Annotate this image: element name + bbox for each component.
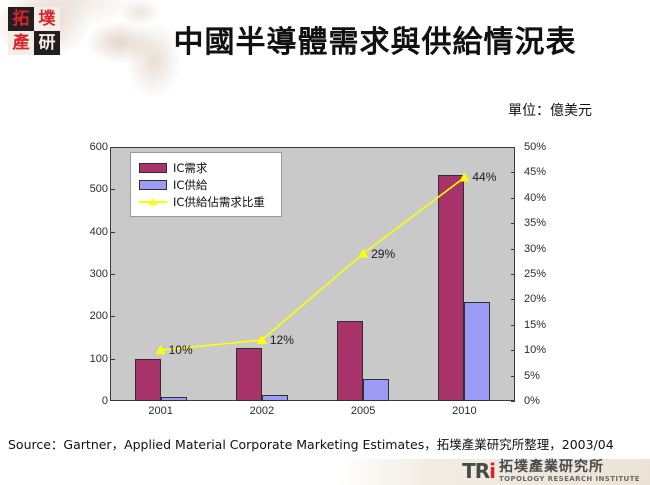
tri-wordmark: TRi (462, 461, 495, 481)
y-axis-tick-label: 0 (72, 396, 108, 407)
x-axis-tick-label: 2010 (424, 406, 504, 417)
bar-supply (464, 302, 490, 401)
tri-footer-logo: TRi 拓墣產業研究所 TOPOLOGY RESEARCH INSTITUTE (462, 459, 640, 483)
ratio-data-label: 44% (472, 171, 496, 183)
slide-canvas: 拓 墣 產 研 中國半導體需求與供給情況表 單位：億美元 01002003004… (0, 0, 650, 485)
y-axis-tick (111, 189, 115, 190)
y-axis-tick (111, 359, 115, 360)
legend-item-demand: IC需求 (139, 159, 274, 176)
unit-caption: 單位：億美元 (508, 100, 592, 120)
y2-axis-tick-label: 20% (524, 294, 564, 305)
legend-swatch-ratio-line-icon (139, 197, 167, 207)
y-axis-tick-label: 500 (72, 184, 108, 195)
y2-axis-tick (511, 147, 515, 148)
y2-axis-tick (511, 249, 515, 250)
x-axis-tick-label: 2005 (323, 406, 403, 417)
tri-wordmark-i: i (489, 459, 495, 483)
y-axis-tick (111, 274, 115, 275)
y-axis-tick (111, 232, 115, 233)
y2-axis-tick (511, 274, 515, 275)
chart: 0100200300400500600 0%5%10%15%20%25%30%3… (78, 140, 548, 422)
bar-demand (337, 321, 363, 401)
y2-axis-tick-label: 35% (524, 218, 564, 229)
logo-cell-3: 產 (8, 31, 34, 55)
y2-axis-tick-label: 0% (524, 396, 564, 407)
bar-supply (161, 397, 187, 401)
y2-axis-tick-label: 15% (524, 320, 564, 331)
page-title: 中國半導體需求與供給情況表 (120, 17, 630, 61)
tri-name-en: TOPOLOGY RESEARCH INSTITUTE (499, 476, 640, 483)
y-axis-tick-label: 600 (72, 142, 108, 153)
logo-cell-4: 研 (34, 31, 60, 55)
legend-label-supply: IC供給 (173, 177, 207, 193)
bar-supply (363, 379, 389, 401)
y2-axis-tick (511, 376, 515, 377)
source-note: Source：Gartner，Applied Material Corporat… (8, 434, 614, 453)
y2-axis-tick-label: 10% (524, 345, 564, 356)
tri-wordmark-tr: TR (462, 459, 489, 483)
y2-axis-tick (511, 299, 515, 300)
y-axis-tick-label: 300 (72, 269, 108, 280)
bar-supply (262, 395, 288, 401)
y2-axis-tick-label: 25% (524, 269, 564, 280)
y2-axis-tick (511, 325, 515, 326)
logo-cell-2: 墣 (34, 7, 60, 31)
legend-swatch-demand-icon (139, 163, 167, 173)
y-axis-tick-label: 400 (72, 227, 108, 238)
y-axis-tick (111, 316, 115, 317)
legend-label-ratio: IC供給佔需求比重 (173, 194, 265, 210)
x-axis-tick-label: 2002 (222, 406, 302, 417)
bar-demand (236, 348, 262, 401)
bar-demand (135, 359, 161, 401)
y-axis-tick-label: 200 (72, 311, 108, 322)
y2-axis-tick (511, 350, 515, 351)
y2-axis-tick (511, 223, 515, 224)
legend-label-demand: IC需求 (173, 160, 207, 176)
legend-item-supply: IC供給 (139, 176, 274, 193)
y-axis-tick-label: 100 (72, 354, 108, 365)
x-axis-tick-label: 2001 (121, 406, 201, 417)
y2-axis-tick-label: 45% (524, 167, 564, 178)
tri-logo-mark: 拓 墣 產 研 (8, 7, 60, 55)
ratio-data-label: 12% (270, 334, 294, 346)
bar-demand (438, 175, 464, 401)
ratio-data-label: 29% (371, 248, 395, 260)
y2-axis-tick (511, 172, 515, 173)
chart-legend: IC需求 IC供給 IC供給佔需求比重 (130, 152, 282, 217)
ratio-data-label: 10% (169, 344, 193, 356)
y2-axis-tick-label: 40% (524, 193, 564, 204)
tri-name-cn: 拓墣產業研究所 (499, 460, 640, 474)
legend-item-ratio: IC供給佔需求比重 (139, 193, 274, 210)
tri-footer-text: 拓墣產業研究所 TOPOLOGY RESEARCH INSTITUTE (499, 460, 640, 483)
y2-axis-tick-label: 5% (524, 371, 564, 382)
y2-axis-tick (511, 401, 515, 402)
legend-swatch-supply-icon (139, 180, 167, 190)
y2-axis-tick-label: 50% (524, 142, 564, 153)
y2-axis-tick-label: 30% (524, 244, 564, 255)
logo-cell-1: 拓 (8, 7, 34, 31)
y2-axis-tick (511, 198, 515, 199)
